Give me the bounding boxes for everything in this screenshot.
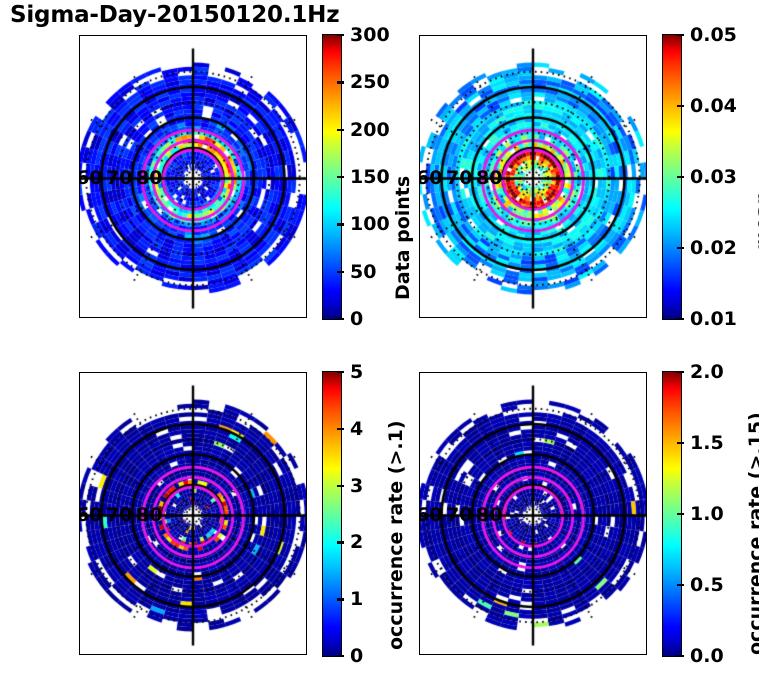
colorbar-title-data-points: Data points <box>392 176 414 300</box>
panel-occurrence-rate-15[interactable]: 60 70 80 <box>419 372 647 655</box>
colorbar-tick-label: 300 <box>350 24 390 46</box>
colorbar-tick-label: 0.05 <box>690 24 737 46</box>
colorbar-tick-label: 1.5 <box>690 432 724 454</box>
colorbar-tick <box>677 442 684 444</box>
colorbar-tick-label: 2 <box>350 531 363 553</box>
colorbar-tick <box>337 34 344 36</box>
colorbar-tick <box>337 129 344 131</box>
colorbar-tick <box>677 105 684 107</box>
colorbar-data-points[interactable]: 050100150200250300 <box>322 34 342 320</box>
colorbar-tick-label: 0.0 <box>690 645 724 667</box>
colorbar-tick-label: 200 <box>350 119 390 141</box>
polar-heatmap-occurrence-rate-10 <box>80 373 306 654</box>
colorbar-tick-label: 3 <box>350 475 363 497</box>
polar-heatmap-data-points <box>80 36 306 317</box>
colorbar-tick-label: 0.02 <box>690 237 737 259</box>
panel-data-points[interactable]: 60 70 80 <box>79 35 307 318</box>
colorbar-tick-label: 0.03 <box>690 166 737 188</box>
colorbar-tick-label: 1 <box>350 588 363 610</box>
colorbar-tick <box>337 428 344 430</box>
figure-title: Sigma-Day-20150120.1Hz <box>10 2 339 28</box>
colorbar-tick <box>337 271 344 273</box>
panel-occurrence-rate-10[interactable]: 60 70 80 <box>79 372 307 655</box>
colorbar-tick-label: 0 <box>350 645 363 667</box>
colorbar-tick <box>677 318 684 320</box>
colorbar-tick-label: 150 <box>350 166 390 188</box>
colorbar-tick-label: 1.0 <box>690 503 724 525</box>
colorbar-tick-label: 5 <box>350 361 363 383</box>
colorbar-tick <box>677 371 684 373</box>
colorbar-title-occurrence-rate-10: occurrence rate (>.1) <box>385 420 407 650</box>
colorbar-mean-sigma-phi[interactable]: 0.010.020.030.040.05 <box>662 34 682 320</box>
colorbar-tick-label: 250 <box>350 71 390 93</box>
colorbar-title-occurrence-rate-15: occurrence rate (>.15) <box>745 412 759 655</box>
colorbar-tick-label: 2.0 <box>690 361 724 383</box>
colorbar-tick-label: 0.01 <box>690 308 737 330</box>
colorbar-tick <box>677 655 684 657</box>
colorbar-tick <box>677 584 684 586</box>
colorbar-tick <box>677 34 684 36</box>
colorbar-tick <box>677 513 684 515</box>
figure-canvas: Sigma-Day-20150120.1Hz 60 70 80 05010015… <box>0 0 759 674</box>
colorbar-tick-label: 0 <box>350 308 363 330</box>
colorbar-gradient-occurrence-rate-10 <box>323 372 341 656</box>
panel-mean-sigma-phi[interactable]: 60 70 80 <box>419 35 647 318</box>
colorbar-tick-label: 100 <box>350 213 390 235</box>
colorbar-tick-label: 0.5 <box>690 574 724 596</box>
colorbar-tick <box>677 176 684 178</box>
colorbar-tick <box>337 655 344 657</box>
polar-heatmap-mean-sigma-phi <box>420 36 646 317</box>
colorbar-tick <box>337 318 344 320</box>
colorbar-title-mean-sigma-phi: mean σϕ <box>752 159 759 250</box>
colorbar-tick <box>337 485 344 487</box>
colorbar-tick <box>337 371 344 373</box>
colorbar-tick-label: 4 <box>350 418 363 440</box>
colorbar-tick <box>337 81 344 83</box>
colorbar-tick <box>337 223 344 225</box>
colorbar-tick-label: 50 <box>350 261 376 283</box>
colorbar-tick <box>337 176 344 178</box>
colorbar-tick <box>337 598 344 600</box>
colorbar-tick-label: 0.04 <box>690 95 737 117</box>
colorbar-occurrence-rate-10[interactable]: 012345 <box>322 371 342 657</box>
colorbar-tick <box>677 247 684 249</box>
colorbar-occurrence-rate-15[interactable]: 0.00.51.01.52.0 <box>662 371 682 657</box>
colorbar-tick <box>337 541 344 543</box>
colorbar-title-text: mean σ <box>752 170 759 250</box>
polar-heatmap-occurrence-rate-15 <box>420 373 646 654</box>
